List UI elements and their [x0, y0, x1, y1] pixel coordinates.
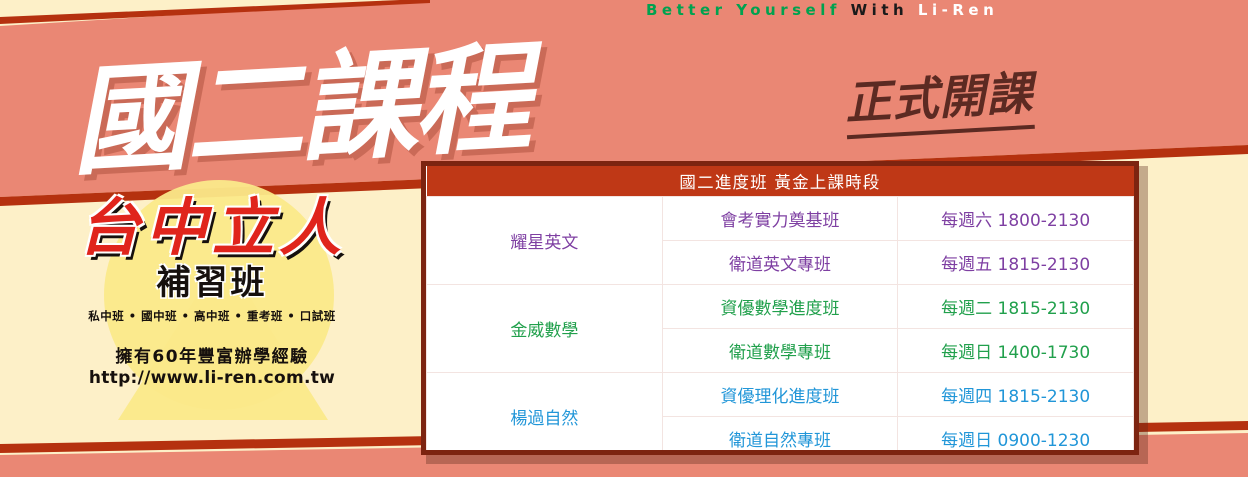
course-time-cell: 每週日 0900-1230 — [898, 417, 1134, 456]
tagline-word-with: With — [851, 1, 909, 19]
logo-website-url[interactable]: http://www.li-ren.com.tw — [22, 368, 402, 388]
english-tagline: Better Yourself With Li-Ren — [646, 1, 998, 19]
table-row: 耀星英文會考實力奠基班每週六 1800-2130 — [427, 197, 1134, 241]
schedule-table-container: 國二進度班 黃金上課時段 耀星英文會考實力奠基班每週六 1800-2130衛道英… — [421, 161, 1139, 455]
tagline-word-liren: Li-Ren — [918, 1, 998, 19]
logo-name-main: 台中立人 — [22, 196, 402, 259]
table-header-row: 國二進度班 黃金上課時段 — [427, 166, 1134, 197]
page-subtitle: 正式開課 — [843, 57, 1035, 139]
tagline-word-better: Better — [646, 1, 727, 19]
course-time-cell: 每週日 1400-1730 — [898, 329, 1134, 373]
course-name-cell: 衛道數學專班 — [662, 329, 898, 373]
schedule-table: 國二進度班 黃金上課時段 耀星英文會考實力奠基班每週六 1800-2130衛道英… — [426, 166, 1134, 455]
course-name-cell: 衛道英文專班 — [662, 241, 898, 285]
promo-banner: Better Yourself With Li-Ren 國二課程 正式開課 台中… — [0, 0, 1248, 477]
logo-experience: 擁有60年豐富辦學經驗 — [22, 342, 402, 367]
teacher-cell: 耀星英文 — [427, 197, 663, 285]
tagline-word-yourself: Yourself — [736, 1, 841, 19]
course-time-cell: 每週四 1815-2130 — [898, 373, 1134, 417]
course-name-cell: 資優理化進度班 — [662, 373, 898, 417]
course-time-cell: 每週五 1815-2130 — [898, 241, 1134, 285]
teacher-cell: 楊過自然 — [427, 373, 663, 456]
course-time-cell: 每週六 1800-2130 — [898, 197, 1134, 241]
course-name-cell: 衛道自然專班 — [662, 417, 898, 456]
school-logo: 台中立人 補習班 私中班 • 國中班 • 高中班 • 重考班 • 口試班 擁有6… — [22, 196, 402, 388]
table-row: 楊過自然資優理化進度班每週四 1815-2130 — [427, 373, 1134, 417]
course-time-cell: 每週二 1815-2130 — [898, 285, 1134, 329]
schedule-table-title: 國二進度班 黃金上課時段 — [427, 166, 1134, 197]
course-name-cell: 資優數學進度班 — [662, 285, 898, 329]
table-row: 金威數學資優數學進度班每週二 1815-2130 — [427, 285, 1134, 329]
teacher-cell: 金威數學 — [427, 285, 663, 373]
course-name-cell: 會考實力奠基班 — [662, 197, 898, 241]
schedule-table-body: 耀星英文會考實力奠基班每週六 1800-2130衛道英文專班每週五 1815-2… — [427, 197, 1134, 456]
logo-course-list: 私中班 • 國中班 • 高中班 • 重考班 • 口試班 — [22, 308, 402, 324]
